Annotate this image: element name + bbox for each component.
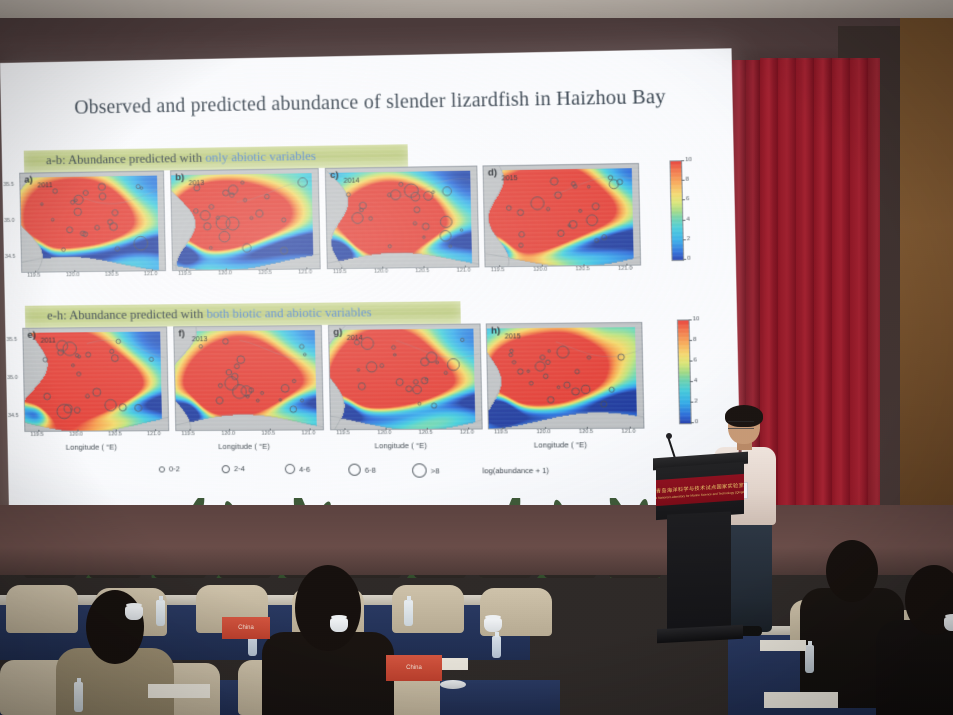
map-panel-a-2011: a)2011 bbox=[19, 170, 166, 272]
x-tick-mark bbox=[465, 266, 466, 268]
colorbar-tick-mark bbox=[689, 319, 692, 320]
wall-right-wood-panel bbox=[900, 18, 953, 538]
paper-sheet bbox=[760, 640, 806, 651]
water-bottle bbox=[404, 600, 413, 626]
x-tick-mark bbox=[382, 267, 383, 269]
panel-label: c) bbox=[330, 170, 339, 181]
legend-item-02: 0-2 bbox=[159, 464, 180, 473]
x-tick-mark bbox=[630, 427, 631, 429]
x-tick-mark bbox=[226, 268, 227, 270]
x-tick-label: 120.5 bbox=[575, 266, 589, 272]
projection-screen: Observed and predicted abundance of slen… bbox=[0, 48, 741, 518]
map-panel-g-2014: g)2014 bbox=[328, 323, 483, 430]
chair bbox=[6, 585, 78, 633]
map-panel-e-2011: e)2011 bbox=[22, 326, 169, 431]
legend-caption: log(abundance + 1) bbox=[482, 466, 549, 475]
colorbar-tick-label: 10 bbox=[693, 316, 700, 322]
x-tick-label: 119.5 bbox=[494, 429, 508, 435]
colorbar-tick-mark bbox=[691, 422, 694, 423]
podium-column bbox=[667, 511, 731, 632]
x-axis-label: Longitude ( °E) bbox=[66, 443, 117, 452]
tea-cup bbox=[484, 618, 502, 632]
colorbar-tick-mark bbox=[682, 200, 685, 201]
panel-year: 2014 bbox=[347, 335, 363, 342]
legend-circle-icon bbox=[348, 464, 361, 476]
panel-year: 2013 bbox=[192, 336, 208, 343]
colorbar-tick-label: 2 bbox=[694, 399, 697, 405]
x-tick-label: 119.5 bbox=[181, 431, 194, 437]
legend-circle-icon bbox=[159, 466, 165, 472]
colorbar-tick-label: 6 bbox=[694, 357, 697, 363]
panel-label: a) bbox=[24, 175, 33, 186]
colorbar-tick-label: 8 bbox=[686, 177, 689, 183]
x-tick-label: 120.5 bbox=[108, 431, 122, 437]
x-tick-mark bbox=[344, 428, 345, 430]
panel-label: d) bbox=[488, 167, 498, 178]
x-tick-label: 121.0 bbox=[144, 271, 158, 277]
stage-front-edge bbox=[0, 505, 953, 575]
x-tick-label: 119.5 bbox=[336, 430, 350, 436]
colorbar-tick-mark bbox=[690, 381, 693, 382]
person-head bbox=[86, 590, 144, 664]
x-tick-label: 120.5 bbox=[579, 429, 593, 435]
colorbar-tick-mark bbox=[681, 160, 684, 161]
x-axis-label: Longitude ( °E) bbox=[534, 440, 587, 449]
tea-cup bbox=[330, 618, 348, 632]
x-tick-mark bbox=[152, 269, 153, 271]
colorbar-tick-label: 4 bbox=[686, 216, 689, 222]
panel-label: f) bbox=[178, 328, 185, 339]
person-torso bbox=[876, 620, 953, 715]
bubble-size-legend: 0-22-44-66-8>8log(abundance + 1) bbox=[159, 459, 591, 481]
colorbar-tick-mark bbox=[690, 402, 693, 403]
x-tick-mark bbox=[35, 271, 36, 273]
x-tick-mark bbox=[269, 429, 270, 431]
y-tick-label: 35.5 bbox=[6, 337, 17, 343]
x-tick-mark bbox=[587, 427, 588, 429]
colorbar-row2 bbox=[677, 319, 692, 424]
x-tick-mark bbox=[186, 269, 187, 271]
map-panel-grid: a)2011119.5120.0120.5121.035.535.034.5b)… bbox=[0, 48, 741, 518]
paper-sheet bbox=[764, 692, 838, 708]
glasses-icon bbox=[728, 421, 754, 429]
x-tick-label: 120.0 bbox=[533, 267, 547, 273]
panel-year: 2011 bbox=[37, 182, 52, 189]
x-tick-mark bbox=[38, 430, 39, 432]
tea-cup bbox=[944, 617, 953, 631]
colorbar-tick-label: 4 bbox=[694, 378, 697, 384]
colorbar-tick-label: 6 bbox=[686, 197, 689, 203]
x-tick-mark bbox=[423, 266, 424, 268]
x-tick-label: 119.5 bbox=[333, 269, 347, 275]
panel-year: 2013 bbox=[188, 180, 204, 187]
x-tick-mark bbox=[584, 264, 585, 266]
podium-sign: 青岛海洋科学与技术试点国家实验室 Pilot National Laborato… bbox=[656, 474, 744, 506]
panel-label: g) bbox=[333, 327, 342, 338]
legend-circle-icon bbox=[285, 464, 295, 474]
x-tick-label: 119.5 bbox=[178, 271, 191, 277]
x-tick-mark bbox=[74, 270, 75, 272]
x-tick-label: 120.0 bbox=[66, 272, 80, 278]
x-tick-mark bbox=[229, 429, 230, 431]
x-axis-label: Longitude ( °E) bbox=[374, 441, 426, 450]
x-tick-label: 121.0 bbox=[460, 430, 474, 436]
x-tick-mark bbox=[468, 428, 469, 430]
person-head bbox=[295, 565, 361, 651]
y-tick-label: 34.5 bbox=[5, 254, 16, 260]
x-tick-label: 120.5 bbox=[415, 268, 429, 274]
microphone-icon bbox=[666, 433, 672, 439]
legend-circle-icon bbox=[412, 463, 427, 477]
x-tick-label: 120.0 bbox=[69, 432, 83, 438]
x-tick-label: 119.5 bbox=[27, 273, 40, 279]
colorbar-tick-mark bbox=[682, 219, 685, 220]
x-tick-mark bbox=[266, 268, 267, 270]
x-tick-label: 120.0 bbox=[536, 429, 550, 435]
colorbar-tick-label: 0 bbox=[695, 419, 698, 425]
legend-item-24: 2-4 bbox=[222, 464, 245, 473]
colorbar-tick-mark bbox=[683, 239, 686, 240]
x-tick-label: 120.5 bbox=[419, 430, 433, 436]
x-axis-label: Longitude ( °E) bbox=[218, 442, 270, 451]
panel-year: 2015 bbox=[505, 333, 521, 340]
map-panel-d-2015: d)2015 bbox=[482, 163, 641, 267]
podium: 青岛海洋科学与技术试点国家实验室 Pilot National Laborato… bbox=[653, 455, 748, 645]
legend-circle-icon bbox=[222, 465, 230, 473]
x-tick-mark bbox=[77, 430, 78, 432]
name-card-text: China bbox=[406, 665, 422, 671]
x-tick-mark bbox=[626, 264, 627, 266]
x-tick-label: 120.5 bbox=[258, 270, 272, 276]
x-tick-label: 120.0 bbox=[377, 430, 391, 436]
colorbar-tick-mark bbox=[689, 361, 692, 362]
tea-cup bbox=[125, 606, 143, 620]
x-tick-mark bbox=[541, 265, 542, 267]
x-tick-mark bbox=[189, 429, 190, 431]
legend-item-label: 4-6 bbox=[299, 464, 310, 473]
legend-item-68: 6-8 bbox=[348, 464, 376, 476]
legend-item-label: >8 bbox=[431, 466, 440, 475]
x-tick-label: 120.5 bbox=[261, 431, 275, 437]
x-tick-label: 121.0 bbox=[457, 268, 471, 274]
colorbar-tick-mark bbox=[683, 259, 686, 260]
table-name-card: China bbox=[222, 617, 270, 639]
name-card-text: China bbox=[238, 625, 254, 631]
colorbar-tick-mark bbox=[689, 340, 692, 341]
y-tick-label: 35.5 bbox=[3, 182, 14, 188]
x-tick-mark bbox=[545, 427, 546, 429]
x-tick-label: 120.0 bbox=[221, 431, 235, 437]
x-tick-mark bbox=[113, 270, 114, 272]
legend-item-8: >8 bbox=[412, 463, 440, 477]
water-bottle bbox=[492, 636, 501, 658]
table-name-card: China bbox=[386, 655, 442, 681]
colorbar-tick-label: 8 bbox=[693, 337, 696, 343]
map-panel-f-2013: f)2013 bbox=[173, 325, 324, 431]
colorbar-tick-label: 2 bbox=[687, 236, 690, 242]
panel-label: b) bbox=[175, 172, 184, 183]
water-bottle bbox=[156, 600, 165, 626]
x-tick-label: 121.0 bbox=[301, 430, 315, 436]
conference-room-photo: Observed and predicted abundance of slen… bbox=[0, 0, 953, 715]
x-tick-label: 121.0 bbox=[298, 269, 312, 275]
x-tick-label: 119.5 bbox=[491, 267, 505, 273]
colorbar-tick-mark bbox=[681, 180, 684, 181]
legend-item-label: 6-8 bbox=[365, 465, 376, 474]
colorbar-tick-label: 10 bbox=[685, 157, 692, 163]
legend-item-46: 4-6 bbox=[285, 464, 310, 474]
x-tick-mark bbox=[306, 267, 307, 269]
x-tick-label: 121.0 bbox=[147, 431, 161, 437]
water-bottle bbox=[74, 682, 83, 712]
panel-year: 2014 bbox=[343, 178, 359, 185]
x-tick-label: 120.0 bbox=[374, 268, 388, 274]
x-tick-mark bbox=[386, 428, 387, 430]
y-tick-label: 34.5 bbox=[8, 413, 19, 419]
x-tick-label: 119.5 bbox=[30, 432, 43, 438]
map-panel-c-2014: c)2014 bbox=[325, 166, 480, 270]
colorbar-row1 bbox=[669, 160, 684, 261]
panel-year: 2011 bbox=[41, 338, 56, 345]
panel-label: h) bbox=[491, 325, 501, 336]
x-tick-label: 120.0 bbox=[218, 270, 232, 276]
person-head bbox=[826, 540, 878, 602]
x-tick-label: 121.0 bbox=[618, 266, 632, 272]
chair bbox=[392, 585, 464, 633]
map-panel-h-2015: h)2015 bbox=[486, 322, 645, 430]
legend-item-label: 2-4 bbox=[234, 464, 245, 473]
x-tick-label: 120.5 bbox=[105, 272, 119, 278]
x-tick-mark bbox=[499, 265, 500, 267]
x-tick-mark bbox=[502, 427, 503, 429]
y-tick-label: 35.0 bbox=[7, 375, 18, 381]
panel-label: e) bbox=[27, 330, 36, 341]
x-tick-mark bbox=[155, 429, 156, 431]
x-tick-mark bbox=[427, 428, 428, 430]
map-panel-b-2013: b)2013 bbox=[170, 168, 321, 271]
panel-year: 2015 bbox=[501, 175, 517, 182]
presentation-slide: Observed and predicted abundance of slen… bbox=[0, 48, 741, 518]
x-tick-mark bbox=[116, 429, 117, 431]
plate bbox=[440, 680, 466, 689]
paper-sheet bbox=[148, 684, 210, 698]
water-bottle bbox=[805, 645, 814, 673]
x-tick-label: 121.0 bbox=[621, 429, 635, 435]
legend-item-label: 0-2 bbox=[169, 464, 180, 473]
y-tick-label: 35.0 bbox=[4, 218, 15, 224]
colorbar-tick-label: 0 bbox=[687, 256, 690, 262]
x-tick-mark bbox=[341, 267, 342, 269]
x-tick-mark bbox=[310, 428, 311, 430]
